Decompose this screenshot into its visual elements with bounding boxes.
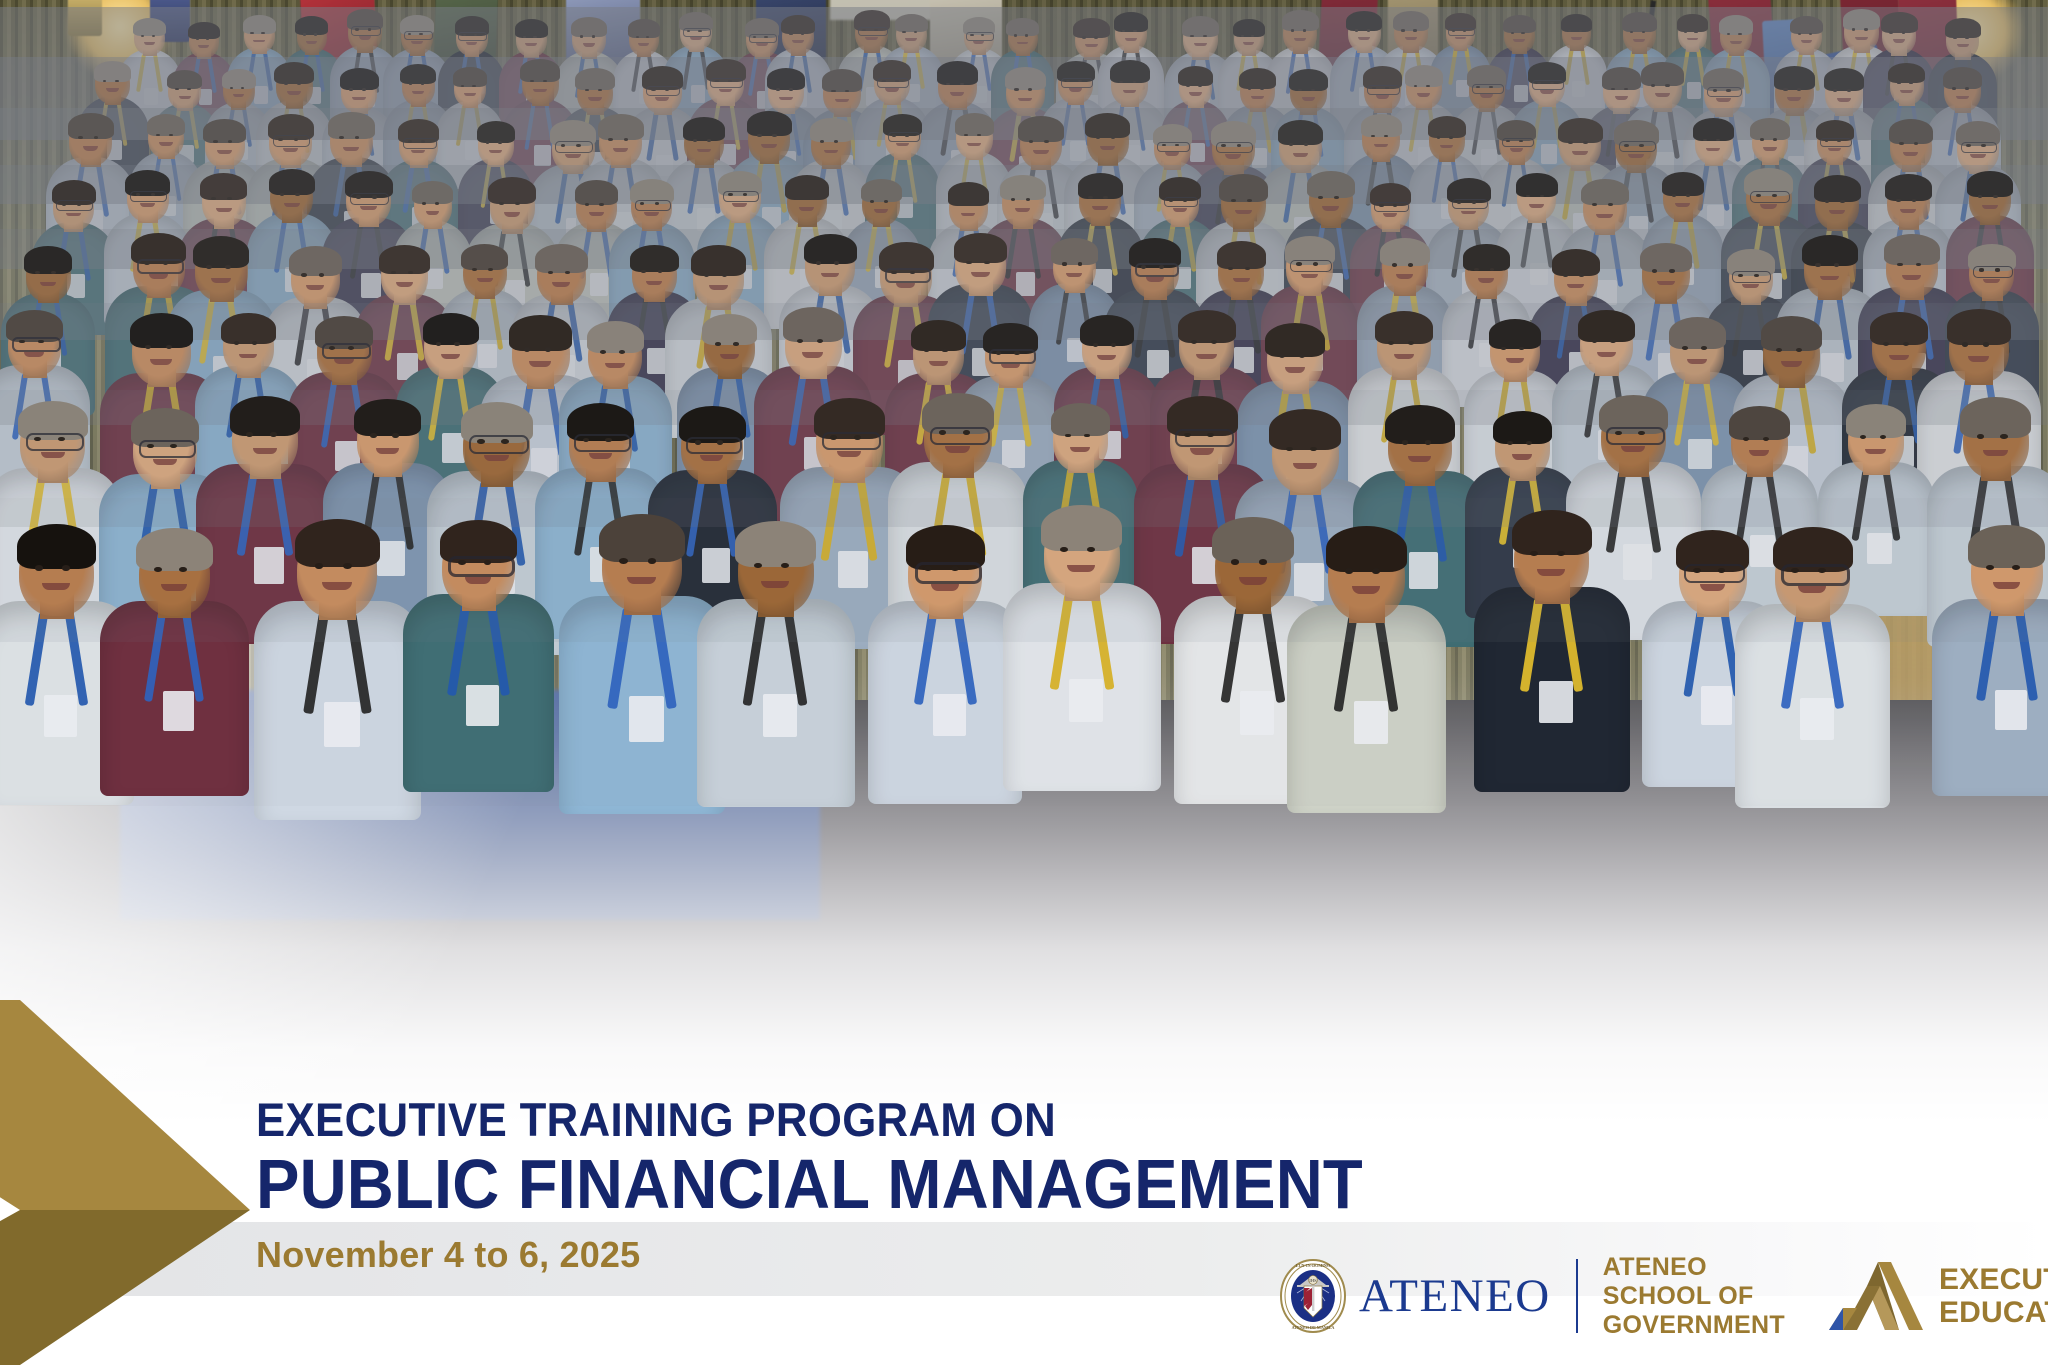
participant-mouth xyxy=(149,274,168,279)
participant-eye xyxy=(655,202,659,205)
participant-hair xyxy=(783,307,844,341)
participant-hair xyxy=(1278,120,1323,146)
participant-head-group xyxy=(1768,526,1857,628)
participant-eye xyxy=(984,261,989,265)
participant-head-group xyxy=(1886,119,1935,176)
participant-mouth xyxy=(466,42,478,45)
participant-mouth xyxy=(646,281,663,285)
participant-mouth xyxy=(644,212,659,216)
participant-head-group xyxy=(226,395,305,485)
svg-text:IHS: IHS xyxy=(1309,1278,1317,1283)
participant-hair xyxy=(1843,9,1880,30)
participant-head-group xyxy=(1208,516,1299,620)
participant-head-group xyxy=(453,16,491,60)
participant-head-group xyxy=(1883,174,1935,234)
participant-eye xyxy=(1025,34,1028,36)
participant-mouth xyxy=(1633,39,1645,42)
participant-head-group xyxy=(1881,233,1943,304)
participant-mouth xyxy=(1828,148,1841,151)
participant-eye xyxy=(1903,342,1909,346)
participant-head-group xyxy=(1788,15,1825,57)
participant-eyeglasses-icon xyxy=(1684,564,1745,583)
participant-eye xyxy=(970,34,973,36)
participant-mouth xyxy=(360,206,377,210)
participant-eye xyxy=(1159,265,1164,268)
participant-hair xyxy=(230,396,301,436)
participant-head-group xyxy=(398,63,438,109)
participant-head-group xyxy=(1600,67,1644,117)
participant-eye xyxy=(1796,348,1802,352)
participant-mouth xyxy=(306,285,324,290)
participant-hair xyxy=(515,19,548,38)
participant-head-group xyxy=(3,310,66,383)
participant-head-group xyxy=(128,232,189,303)
participant-hair xyxy=(68,113,114,139)
participant-eye xyxy=(196,38,199,40)
participant-hair xyxy=(1005,67,1047,91)
participant-eye xyxy=(1815,263,1821,267)
participant-hair xyxy=(955,113,994,135)
participant-hair xyxy=(1114,12,1148,31)
participant-head-group xyxy=(1559,14,1594,54)
participant-head-group xyxy=(451,67,490,111)
participant-eye xyxy=(966,261,971,265)
participant-hair xyxy=(1380,238,1430,266)
participant-eye xyxy=(1521,32,1524,34)
participant-eye xyxy=(501,439,508,444)
participant-hair xyxy=(1265,323,1325,357)
participant-head-group xyxy=(980,323,1040,392)
participant-hair xyxy=(1558,118,1603,143)
participant-mouth xyxy=(504,212,521,216)
participant-head-group xyxy=(1208,120,1259,178)
participant-head-group xyxy=(1943,18,1982,63)
participant-eye xyxy=(1693,568,1700,573)
participant-head-group xyxy=(1214,241,1269,304)
participant-mouth xyxy=(896,283,915,288)
participant-eye xyxy=(1756,194,1761,197)
participant-head-group xyxy=(1280,10,1321,57)
participant-eye xyxy=(284,82,288,85)
participant-head-group xyxy=(1748,118,1792,168)
participant-mouth xyxy=(950,92,964,96)
participant-head-group xyxy=(49,179,98,236)
participant-mouth xyxy=(83,146,99,150)
participant-head-group xyxy=(627,179,676,235)
participant-hair xyxy=(535,244,587,274)
participant-head-group xyxy=(1799,234,1860,304)
participant-head-group xyxy=(1555,117,1605,174)
participant-eyeglasses-icon xyxy=(1619,141,1656,152)
participant-head-group xyxy=(1549,248,1603,310)
participant-eye xyxy=(1726,89,1730,92)
participant-eye xyxy=(1579,273,1584,276)
participant-head-group xyxy=(1461,244,1512,303)
participant-head-group xyxy=(1867,311,1932,385)
participant-id-badge xyxy=(763,694,797,737)
participant-head-group xyxy=(1217,173,1271,235)
participant-mouth xyxy=(709,285,728,290)
participant-eye xyxy=(608,138,613,141)
participant-eye xyxy=(294,138,299,141)
participant-hair xyxy=(1885,174,1932,201)
participant-hair xyxy=(1041,505,1122,551)
participant-hair xyxy=(1884,234,1940,266)
participant-eye xyxy=(951,566,959,571)
participant-head-group xyxy=(376,244,432,309)
participant-hair xyxy=(895,14,928,33)
participant-head-group xyxy=(294,16,331,58)
participant-mouth xyxy=(1506,358,1524,363)
participant-eye xyxy=(1965,36,1969,38)
participant-eye xyxy=(1259,559,1267,564)
participant-mouth xyxy=(1628,154,1643,158)
participant-eye xyxy=(1979,268,1984,271)
participant-head-group xyxy=(485,176,539,238)
participant-hair xyxy=(221,313,276,344)
participant-eye xyxy=(834,261,839,265)
participant-mouth xyxy=(1687,359,1707,364)
participant-head-group xyxy=(266,168,317,227)
participant-mouth xyxy=(529,361,550,367)
participant-head-group xyxy=(1304,171,1357,232)
participant-head-group xyxy=(1513,172,1560,226)
logo-divider xyxy=(1576,1259,1578,1333)
participant-eye xyxy=(349,88,353,91)
participant-mouth xyxy=(1571,37,1582,40)
participant-head-group xyxy=(1965,243,2019,305)
participant-eye xyxy=(1437,136,1441,139)
participant-mouth xyxy=(1900,90,1913,93)
participant-head-group xyxy=(459,243,511,303)
participant-head-group xyxy=(92,60,133,107)
participant-head-group xyxy=(1180,15,1221,63)
participant-head-group xyxy=(1055,60,1097,108)
participant-head-group xyxy=(908,320,969,390)
participant-hair xyxy=(1110,60,1150,83)
participant xyxy=(1932,599,2048,796)
participant-eye xyxy=(1472,201,1476,204)
participant-eye xyxy=(715,342,720,346)
participant-mouth xyxy=(1066,273,1082,277)
participant-eye xyxy=(419,33,422,35)
participant-head-group xyxy=(1402,65,1444,114)
participant-eye xyxy=(187,88,191,90)
participant-eye xyxy=(882,80,886,83)
participant-head-group xyxy=(1005,17,1041,58)
participant-mouth xyxy=(489,150,502,153)
participant-eye xyxy=(1014,351,1019,355)
participant-mouth xyxy=(761,144,777,148)
participant-eye xyxy=(362,88,366,91)
participant-head-group xyxy=(241,15,278,58)
ateneo-school-of-government-wordmark: ATENEO SCHOOL OF GOVERNMENT xyxy=(1603,1253,1785,1340)
participant-hair xyxy=(1947,309,2011,345)
participant-hair xyxy=(340,68,379,90)
participant-hair xyxy=(400,64,436,84)
participant-eye xyxy=(1912,199,1917,202)
participant-eye xyxy=(206,265,212,269)
participant-mouth xyxy=(1394,354,1414,359)
participant-mouth xyxy=(1781,361,1802,366)
participant-hair xyxy=(1750,118,1789,140)
participant-head-group xyxy=(201,118,248,172)
participant-eye xyxy=(477,439,484,444)
participant-mouth xyxy=(1461,211,1476,215)
participant-mouth xyxy=(1190,448,1214,454)
participant-mouth xyxy=(42,583,70,590)
participant-eye xyxy=(1540,195,1544,198)
participant-head-group xyxy=(699,314,760,384)
participant-hair xyxy=(628,19,660,37)
participant-head-group xyxy=(859,179,904,231)
participant-head-group xyxy=(65,112,116,170)
program-title-line1: EXECUTIVE TRAINING PROGRAM ON xyxy=(256,1096,1363,1143)
participant-mouth xyxy=(1396,274,1413,278)
participant-head-group xyxy=(1821,68,1866,120)
participant-id-badge xyxy=(1687,82,1700,99)
participant-id-badge xyxy=(1354,701,1388,744)
participant-eye xyxy=(1449,136,1453,139)
participant-eye xyxy=(280,193,285,196)
participant-id-badge xyxy=(1069,679,1103,722)
participant-hair xyxy=(1516,173,1558,197)
participant-eye xyxy=(1094,36,1098,38)
participant-head-group xyxy=(21,246,75,308)
participant-eye xyxy=(1840,200,1845,203)
participant-eye xyxy=(1639,144,1643,147)
participant-mouth xyxy=(967,143,981,146)
participant-head-group xyxy=(961,17,997,58)
participant-eye xyxy=(1684,30,1687,32)
participant-eye xyxy=(1902,31,1906,33)
participant-eye xyxy=(592,35,596,37)
participant-mouth xyxy=(1687,38,1698,41)
participant-mouth xyxy=(835,99,849,103)
event-date: November 4 to 6, 2025 xyxy=(256,1234,640,1276)
participant-mouth xyxy=(1455,37,1466,40)
participant-mouth xyxy=(334,359,354,364)
participant-hair xyxy=(1881,12,1918,33)
participant-mouth xyxy=(1512,454,1532,459)
participant-hair xyxy=(17,524,97,569)
participant-hair xyxy=(683,117,726,141)
participant-hair xyxy=(1943,67,1982,89)
participant xyxy=(1003,583,1161,791)
participant-head-group xyxy=(1886,62,1927,109)
participant-head-group xyxy=(876,242,937,312)
participant-mouth xyxy=(589,212,604,216)
participant-eye xyxy=(1773,138,1777,141)
participant-mouth xyxy=(1597,352,1616,357)
participant-head-group xyxy=(190,235,252,307)
participant-eye xyxy=(585,203,589,206)
participant-eye xyxy=(1776,348,1782,352)
participant-eye xyxy=(343,563,352,569)
participant-mouth xyxy=(1478,278,1494,282)
participant-eye xyxy=(902,31,905,33)
participant-mouth xyxy=(1001,364,1020,369)
participant-mouth xyxy=(1621,446,1645,452)
participant-eye xyxy=(1198,84,1202,86)
participant-mouth xyxy=(1293,463,1318,469)
participant-mouth xyxy=(179,96,191,99)
participant-mouth xyxy=(283,148,299,152)
participant-eye xyxy=(1897,263,1903,267)
participant-head-group xyxy=(396,119,442,172)
participant-head-group xyxy=(1359,113,1404,165)
participant-eye xyxy=(1334,196,1339,199)
participant-eye xyxy=(789,33,792,35)
participant-mouth xyxy=(1982,205,1998,209)
participant-id-badge xyxy=(933,694,966,736)
participant-eye xyxy=(1372,568,1380,573)
participant-head-group xyxy=(436,519,522,618)
participant-eyeglasses-icon xyxy=(26,433,84,451)
participant-hair xyxy=(1693,118,1734,141)
participant-hair xyxy=(822,69,862,92)
participant-hair xyxy=(509,315,571,350)
participant-eye xyxy=(170,444,177,449)
participant-head-group xyxy=(743,18,781,61)
participant-eye xyxy=(1392,263,1397,266)
participant-eye xyxy=(1760,138,1764,141)
participant-mouth xyxy=(216,208,232,212)
participant-mouth xyxy=(411,150,425,154)
participant-hair xyxy=(1677,14,1709,32)
participant-head-group xyxy=(1944,309,2015,390)
participant-hair xyxy=(1178,66,1214,86)
participant-eye xyxy=(1408,263,1413,266)
participant-mouth xyxy=(1529,204,1543,208)
participant-eye xyxy=(1713,89,1717,92)
participant-head-group xyxy=(595,113,646,172)
participant-eye xyxy=(1993,195,1998,198)
participant-eye xyxy=(1686,194,1690,197)
participant-head-group xyxy=(12,523,101,625)
participant-head-group xyxy=(1771,66,1817,119)
participant-mouth xyxy=(700,455,723,461)
participant-hair xyxy=(269,169,315,195)
participant-head-group xyxy=(934,61,980,114)
participant-mouth xyxy=(1196,354,1216,359)
participant-eye xyxy=(230,87,233,89)
participant-head-group xyxy=(1758,316,1826,394)
participant-head-group xyxy=(1382,404,1459,492)
participant-mouth xyxy=(465,577,492,584)
participant-eye xyxy=(1345,568,1353,573)
participant-head-group xyxy=(1675,14,1710,55)
participant-head-group xyxy=(1843,403,1910,480)
participant-id-badge xyxy=(324,702,360,747)
participant-eye xyxy=(2000,434,2007,439)
participant-mouth xyxy=(464,93,476,96)
participant-eye xyxy=(1291,29,1295,31)
participant-id-badge xyxy=(838,551,868,589)
participant-hair xyxy=(1761,316,1822,350)
participant-head-group xyxy=(218,312,279,382)
participant-head-group xyxy=(998,174,1049,232)
participant-eyeglasses-icon xyxy=(139,440,196,458)
participant-hair xyxy=(587,321,645,354)
participant-mouth xyxy=(945,446,970,452)
participant-eye xyxy=(329,346,335,350)
participant-eye xyxy=(1962,342,1968,346)
participant-hair xyxy=(1889,119,1933,144)
participant-id-badge xyxy=(647,348,667,374)
participant-eye xyxy=(1754,274,1759,277)
participant-hair xyxy=(571,17,607,37)
participant-eye xyxy=(498,141,502,144)
participant-id-badge xyxy=(702,548,730,583)
participant-hair xyxy=(1051,238,1098,264)
participant-eye xyxy=(488,268,493,271)
participant-eye xyxy=(698,30,701,32)
participant-mouth xyxy=(1405,37,1417,40)
participant-hair xyxy=(1552,249,1600,276)
participant-head-group xyxy=(1941,66,1985,116)
participant-mouth xyxy=(627,577,656,585)
participant-mouth xyxy=(1749,450,1770,455)
participant-eye xyxy=(77,203,81,206)
participant-hair xyxy=(1073,18,1109,38)
participant-mouth xyxy=(525,43,536,46)
participant-mouth xyxy=(802,352,823,357)
participant-head-group xyxy=(165,69,204,114)
participant-eye xyxy=(1044,140,1049,143)
participant-head-group xyxy=(1174,309,1239,384)
participant-eye xyxy=(1864,28,1868,30)
participant-head-group xyxy=(1361,66,1405,116)
participant-eye xyxy=(797,339,803,343)
participant-eye xyxy=(356,195,361,198)
participant-head-group xyxy=(573,68,617,118)
participant-mouth xyxy=(1067,565,1095,572)
participant-eye xyxy=(1837,139,1841,142)
participant-head-group xyxy=(704,59,748,110)
participant-head-group xyxy=(893,13,930,55)
participant-head-group xyxy=(548,119,599,178)
participant-mouth xyxy=(1352,586,1380,593)
participant-head-group xyxy=(1814,119,1856,168)
participant-mouth xyxy=(41,452,65,458)
participant-head-group xyxy=(457,401,537,493)
participant-mouth xyxy=(1801,40,1812,43)
participant-head-group xyxy=(265,113,316,172)
participant-id-badge xyxy=(163,691,195,731)
participant-mouth xyxy=(1408,456,1432,462)
participant-eyeglasses-icon xyxy=(1606,427,1664,445)
participant-eye xyxy=(1897,82,1901,84)
participant-hair xyxy=(937,61,979,85)
participant-hair xyxy=(1375,311,1433,344)
participant-mouth xyxy=(1225,154,1241,158)
participant-hair xyxy=(193,236,249,268)
svg-text:LUX·IN·DOMINO: LUX·IN·DOMINO xyxy=(1296,1263,1331,1268)
participant-mouth xyxy=(973,41,984,44)
participant-eye xyxy=(1318,196,1323,199)
participant-eye xyxy=(717,440,724,444)
participant-mouth xyxy=(613,148,629,152)
participant-head-group xyxy=(626,19,661,60)
participant-eye xyxy=(939,430,946,435)
participant-mouth xyxy=(1440,145,1453,148)
participant-eye xyxy=(576,144,581,147)
participant-head-group xyxy=(1372,311,1436,385)
participant-id-badge xyxy=(1409,552,1438,588)
participant-eye xyxy=(1228,267,1233,270)
participant-eye xyxy=(942,349,947,353)
